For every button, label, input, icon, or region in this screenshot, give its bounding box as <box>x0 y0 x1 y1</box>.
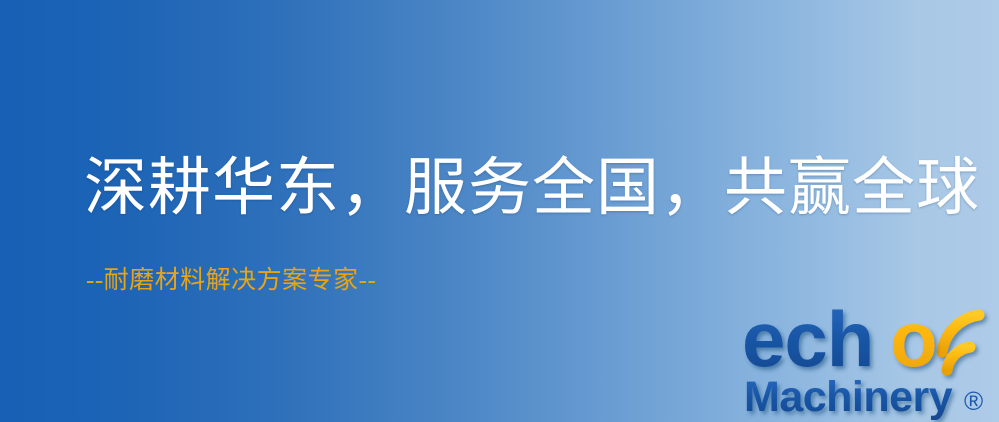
logo-brand-primary: ech <box>742 295 873 383</box>
echo-machinery-logo[interactable]: ech o Machinery ® <box>742 296 999 422</box>
banner-headline: 深耕华东，服务全国，共赢全球 <box>84 152 980 224</box>
promo-banner: 深耕华东，服务全国，共赢全球 --耐磨材料解决方案专家-- <box>0 0 999 422</box>
echo-wave-icon <box>942 315 979 370</box>
logo-brand-secondary: Machinery <box>744 373 953 421</box>
banner-subtitle: --耐磨材料解决方案专家-- <box>86 266 376 296</box>
logo-trademark-symbol: ® <box>964 386 983 416</box>
logo-brand-accent: o <box>890 295 938 383</box>
